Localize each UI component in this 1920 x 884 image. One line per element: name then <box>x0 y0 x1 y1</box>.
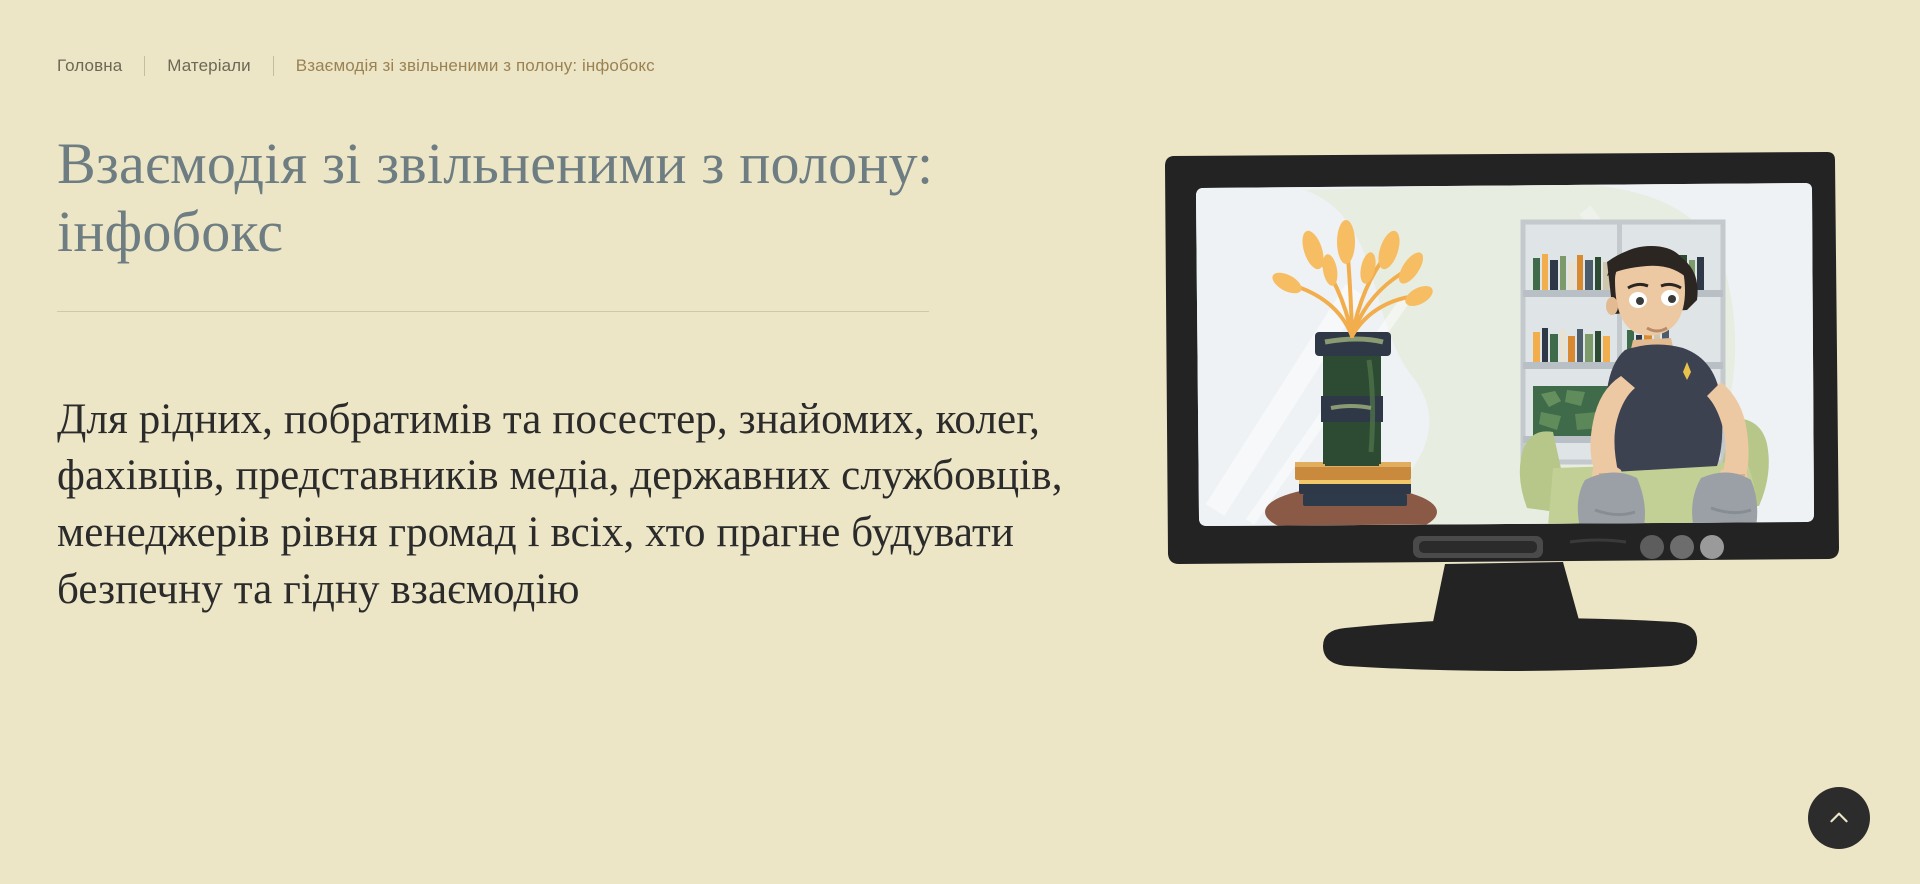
breadcrumb-separator <box>144 56 145 76</box>
article-lede: Для рідних, побратимів та посестер, знай… <box>57 392 1097 619</box>
tall-vase <box>1315 332 1391 466</box>
illustration-container <box>1155 150 1855 710</box>
breadcrumb-separator <box>273 56 274 76</box>
title-divider <box>57 311 929 312</box>
chevron-up-icon <box>1826 805 1852 831</box>
screen-scene <box>1195 180 1820 538</box>
page-title: Взаємодія зі звільненими з полону: інфоб… <box>57 130 937 266</box>
stacked-books <box>1295 462 1411 506</box>
tv-monitor-person-in-armchair-illustration <box>1155 150 1855 710</box>
breadcrumb-item-materials[interactable]: Матеріали <box>167 56 251 76</box>
article-header: Взаємодія зі звільненими з полону: інфоб… <box>57 130 1097 619</box>
breadcrumb-item-current: Взаємодія зі звільненими з полону: інфоб… <box>296 56 655 76</box>
breadcrumb: Головна Матеріали Взаємодія зі звільнени… <box>57 56 655 76</box>
tv-stand <box>1323 562 1697 671</box>
breadcrumb-item-home[interactable]: Головна <box>57 56 122 76</box>
tshirt <box>1605 344 1722 472</box>
scroll-to-top-button[interactable] <box>1808 787 1870 849</box>
